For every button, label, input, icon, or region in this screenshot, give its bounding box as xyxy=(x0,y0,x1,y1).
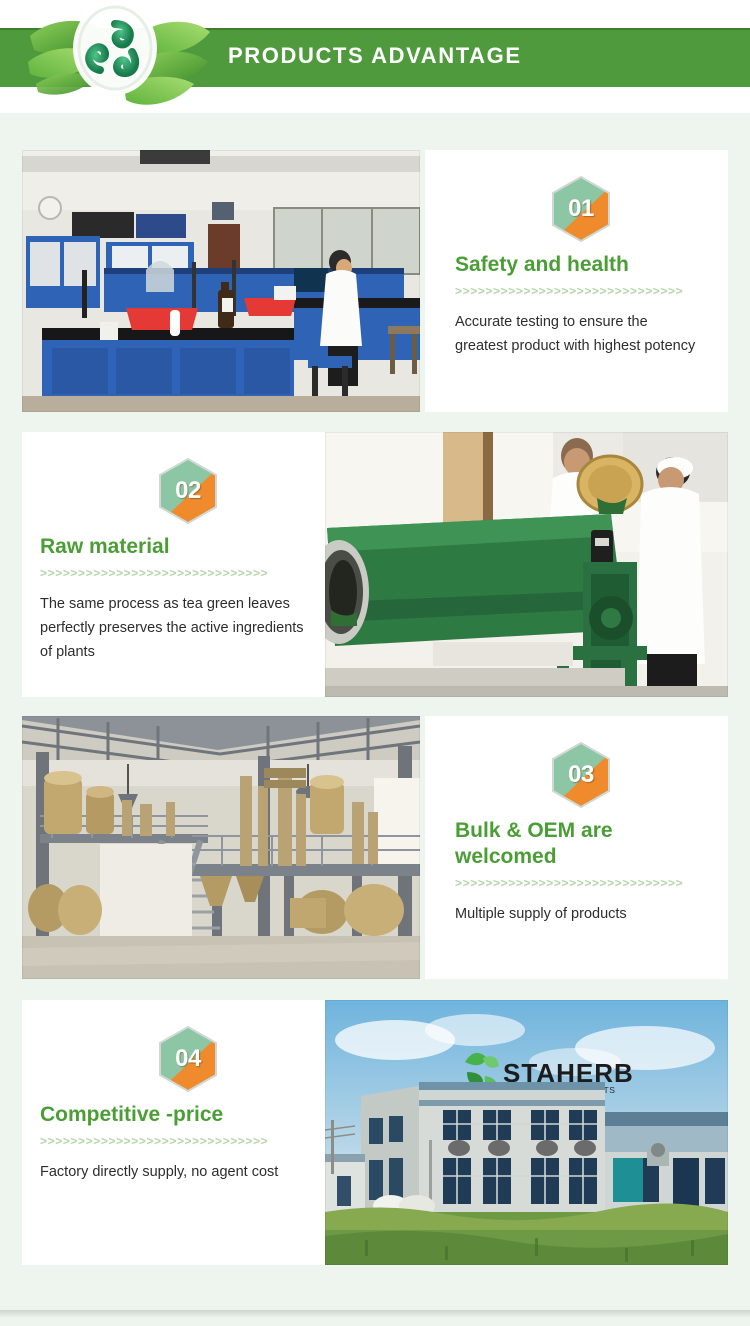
advantage-body: Accurate testing to ensure the greatest … xyxy=(455,310,700,358)
badge-number-text: 01 xyxy=(551,176,611,242)
extraction-workshop-photo xyxy=(22,716,420,979)
page-header: PRODUCTS ADVANTAGE xyxy=(0,0,750,113)
chevron-divider: >>>>>>>>>>>>>>>>>>>>>>>>>>>>>> xyxy=(455,282,700,300)
number-badge-01: 01 xyxy=(551,176,611,242)
number-badge-02: 02 xyxy=(158,458,218,524)
chevron-divider: >>>>>>>>>>>>>>>>>>>>>>>>>>>>>> xyxy=(455,874,700,892)
advantage-card-2: 02 Raw material >>>>>>>>>>>>>>>>>>>>>>>>… xyxy=(22,432,332,697)
advantage-body: Multiple supply of products xyxy=(455,902,700,926)
factory-building-photo: STAHERB NATURAL INGREDIENTS xyxy=(325,1000,728,1265)
badge-number-text: 02 xyxy=(158,458,218,524)
advantage-card-4: 04 Competitive -price >>>>>>>>>>>>>>>>>>… xyxy=(22,1000,332,1265)
badge-number-text: 04 xyxy=(158,1026,218,1092)
advantage-title: Bulk & OEM are welcomed xyxy=(455,818,700,870)
advantage-title: Safety and health xyxy=(455,252,700,278)
page-title: PRODUCTS ADVANTAGE xyxy=(228,41,522,71)
laboratory-testing-photo xyxy=(22,150,420,412)
advantage-body: Factory directly supply, no agent cost xyxy=(40,1160,312,1184)
advantage-card-1: 01 Safety and health >>>>>>>>>>>>>>>>>>>… xyxy=(425,150,728,412)
advantage-row-2: 02 Raw material >>>>>>>>>>>>>>>>>>>>>>>>… xyxy=(22,432,728,697)
chevron-divider: >>>>>>>>>>>>>>>>>>>>>>>>>>>>>> xyxy=(40,1132,312,1150)
advantage-card-3: 03 Bulk & OEM are welcomed >>>>>>>>>>>>>… xyxy=(425,716,728,979)
advantage-row-1: 01 Safety and health >>>>>>>>>>>>>>>>>>>… xyxy=(22,150,728,412)
tea-roasting-machine-photo xyxy=(325,432,728,697)
advantage-title: Competitive -price xyxy=(40,1102,312,1128)
advantage-body: The same process as tea green leaves per… xyxy=(40,592,312,664)
advantage-row-4: 04 Competitive -price >>>>>>>>>>>>>>>>>>… xyxy=(22,1000,728,1265)
number-badge-04: 04 xyxy=(158,1026,218,1092)
page-bottom-shadow xyxy=(0,1310,750,1318)
products-advantage-page: PRODUCTS ADVANTAGE xyxy=(0,0,750,1326)
leaf-recycle-logo-icon xyxy=(28,0,213,113)
badge-number-text: 03 xyxy=(551,742,611,808)
advantage-row-3: 03 Bulk & OEM are welcomed >>>>>>>>>>>>>… xyxy=(22,716,728,979)
number-badge-03: 03 xyxy=(551,742,611,808)
chevron-divider: >>>>>>>>>>>>>>>>>>>>>>>>>>>>>> xyxy=(40,564,312,582)
advantage-title: Raw material xyxy=(40,534,312,560)
